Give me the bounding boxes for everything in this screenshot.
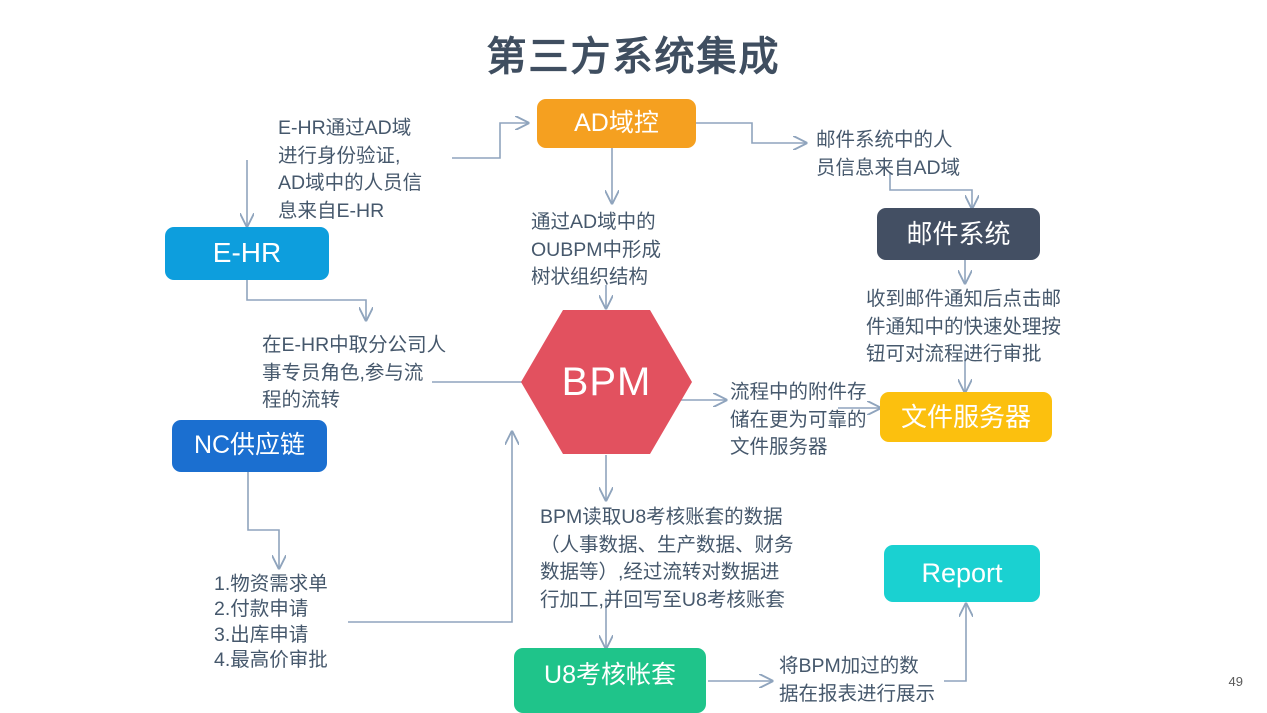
node-ad-domain-label: AD域控 xyxy=(574,110,659,138)
node-u8[interactable]: U8考核帐套 xyxy=(514,648,706,713)
note-ad-to-mail: 邮件系统中的人 员信息来自AD域 xyxy=(816,127,1016,182)
note-bpm-to-file: 流程中的附件存 储在更为可靠的 文件服务器 xyxy=(730,379,890,462)
page-number: 49 xyxy=(1229,674,1243,689)
node-report-label: Report xyxy=(921,559,1002,589)
note-ad-to-bpm: 通过AD域中的 OUBPM中形成 树状组织结构 xyxy=(531,209,721,292)
node-fileserver-label: 文件服务器 xyxy=(901,403,1031,432)
bpm-hexagon-shape xyxy=(521,310,692,454)
note-bpm-to-u8: BPM读取U8考核账套的数据 （人事数据、生产数据、财务 数据等）,经过流转对数… xyxy=(540,504,830,615)
note-mail-to-file: 收到邮件通知后点击邮 件通知中的快速处理按 钮可对流程进行审批 xyxy=(866,286,1076,369)
node-ehr[interactable]: E-HR xyxy=(165,227,329,280)
node-ehr-label: E-HR xyxy=(213,238,281,269)
node-bpm[interactable]: BPM xyxy=(519,308,694,456)
note-nc-list: 1.物资需求单 2.付款申请 3.出库申请 4.最高价审批 xyxy=(214,572,394,673)
node-mail[interactable]: 邮件系统 xyxy=(877,208,1040,260)
wire-nc-to-list xyxy=(248,472,279,568)
node-u8-label: U8考核帐套 xyxy=(544,662,676,690)
wire-note-to-ad xyxy=(452,123,528,158)
slide-canvas: 第三方系统集成 xyxy=(0,0,1267,713)
wire-ad-to-mailnote xyxy=(696,123,806,143)
wire-ehr-to-rolenote xyxy=(247,280,366,320)
node-report[interactable]: Report xyxy=(884,545,1040,602)
node-mail-label: 邮件系统 xyxy=(906,220,1010,249)
note-ehr-role: 在E-HR中取分公司人 事专员角色,参与流 程的流转 xyxy=(262,332,477,415)
node-ad-domain[interactable]: AD域控 xyxy=(537,99,696,148)
node-nc-supply[interactable]: NC供应链 xyxy=(172,420,327,472)
node-fileserver[interactable]: 文件服务器 xyxy=(880,392,1052,442)
note-u8-to-report: 将BPM加过的数 据在报表进行展示 xyxy=(779,653,959,708)
node-nc-supply-label: NC供应链 xyxy=(194,432,305,460)
note-ehr-to-ad: E-HR通过AD域 进行身份验证, AD域中的人员信 息来自E-HR xyxy=(278,115,458,226)
